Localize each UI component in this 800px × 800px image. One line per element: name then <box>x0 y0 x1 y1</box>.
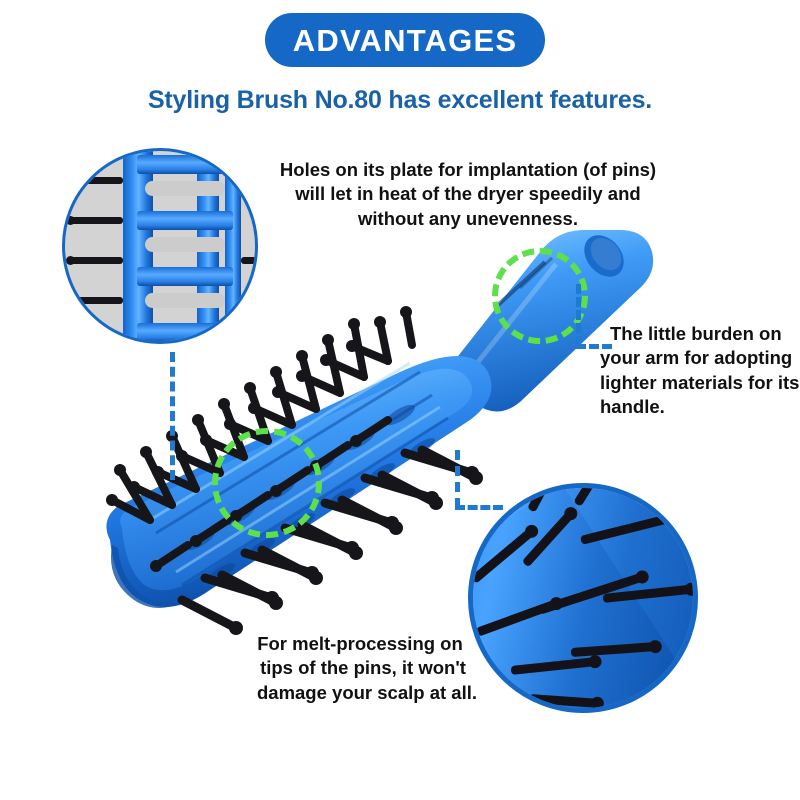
callout-plate-holes: Holes on its plate for implantation (of … <box>258 158 678 231</box>
plate-rung <box>137 155 233 174</box>
plate-rung <box>137 211 233 230</box>
infographic-canvas: ADVANTAGES Styling Brush No.80 has excel… <box>0 0 800 800</box>
plate-pin <box>241 257 258 264</box>
plate-rung <box>137 267 233 286</box>
plate-pin <box>69 177 123 184</box>
highlight-circle-handle <box>492 248 588 344</box>
magnifier-plate-content <box>65 151 255 341</box>
plate-hole <box>145 293 225 308</box>
callout-line: without any unevenness. <box>258 207 678 231</box>
callout-line: For melt-processing on <box>210 632 510 656</box>
callout-line: Holes on its plate for implantation (of … <box>258 158 678 182</box>
callout-line: lighter materials for its <box>600 371 800 395</box>
plate-pin <box>69 257 123 264</box>
connector-plate-closeup <box>170 352 175 480</box>
callout-line: The little burden on <box>600 322 800 346</box>
plate-ridge-edge <box>225 148 241 344</box>
plate-rung <box>137 323 233 342</box>
callout-line: will let in heat of the dryer speedily a… <box>258 182 678 206</box>
magnifier-plate-closeup <box>62 148 258 344</box>
callout-light-handle: The little burden on your arm for adopti… <box>600 322 800 420</box>
callout-line: your arm for adopting <box>600 346 800 370</box>
callout-line: damage your scalp at all. <box>210 681 510 705</box>
connector-handle-callout <box>576 284 581 346</box>
callout-line: tips of the pins, it won't <box>210 656 510 680</box>
plate-pin <box>69 297 123 304</box>
connector-pin-closeup-vertical <box>455 450 460 508</box>
plate-hole <box>145 181 225 196</box>
plate-pin <box>69 333 123 340</box>
callout-line: handle. <box>600 395 800 419</box>
callout-pin-tips: For melt-processing on tips of the pins,… <box>210 632 510 705</box>
plate-hole <box>145 237 225 252</box>
plate-pin <box>69 217 123 224</box>
